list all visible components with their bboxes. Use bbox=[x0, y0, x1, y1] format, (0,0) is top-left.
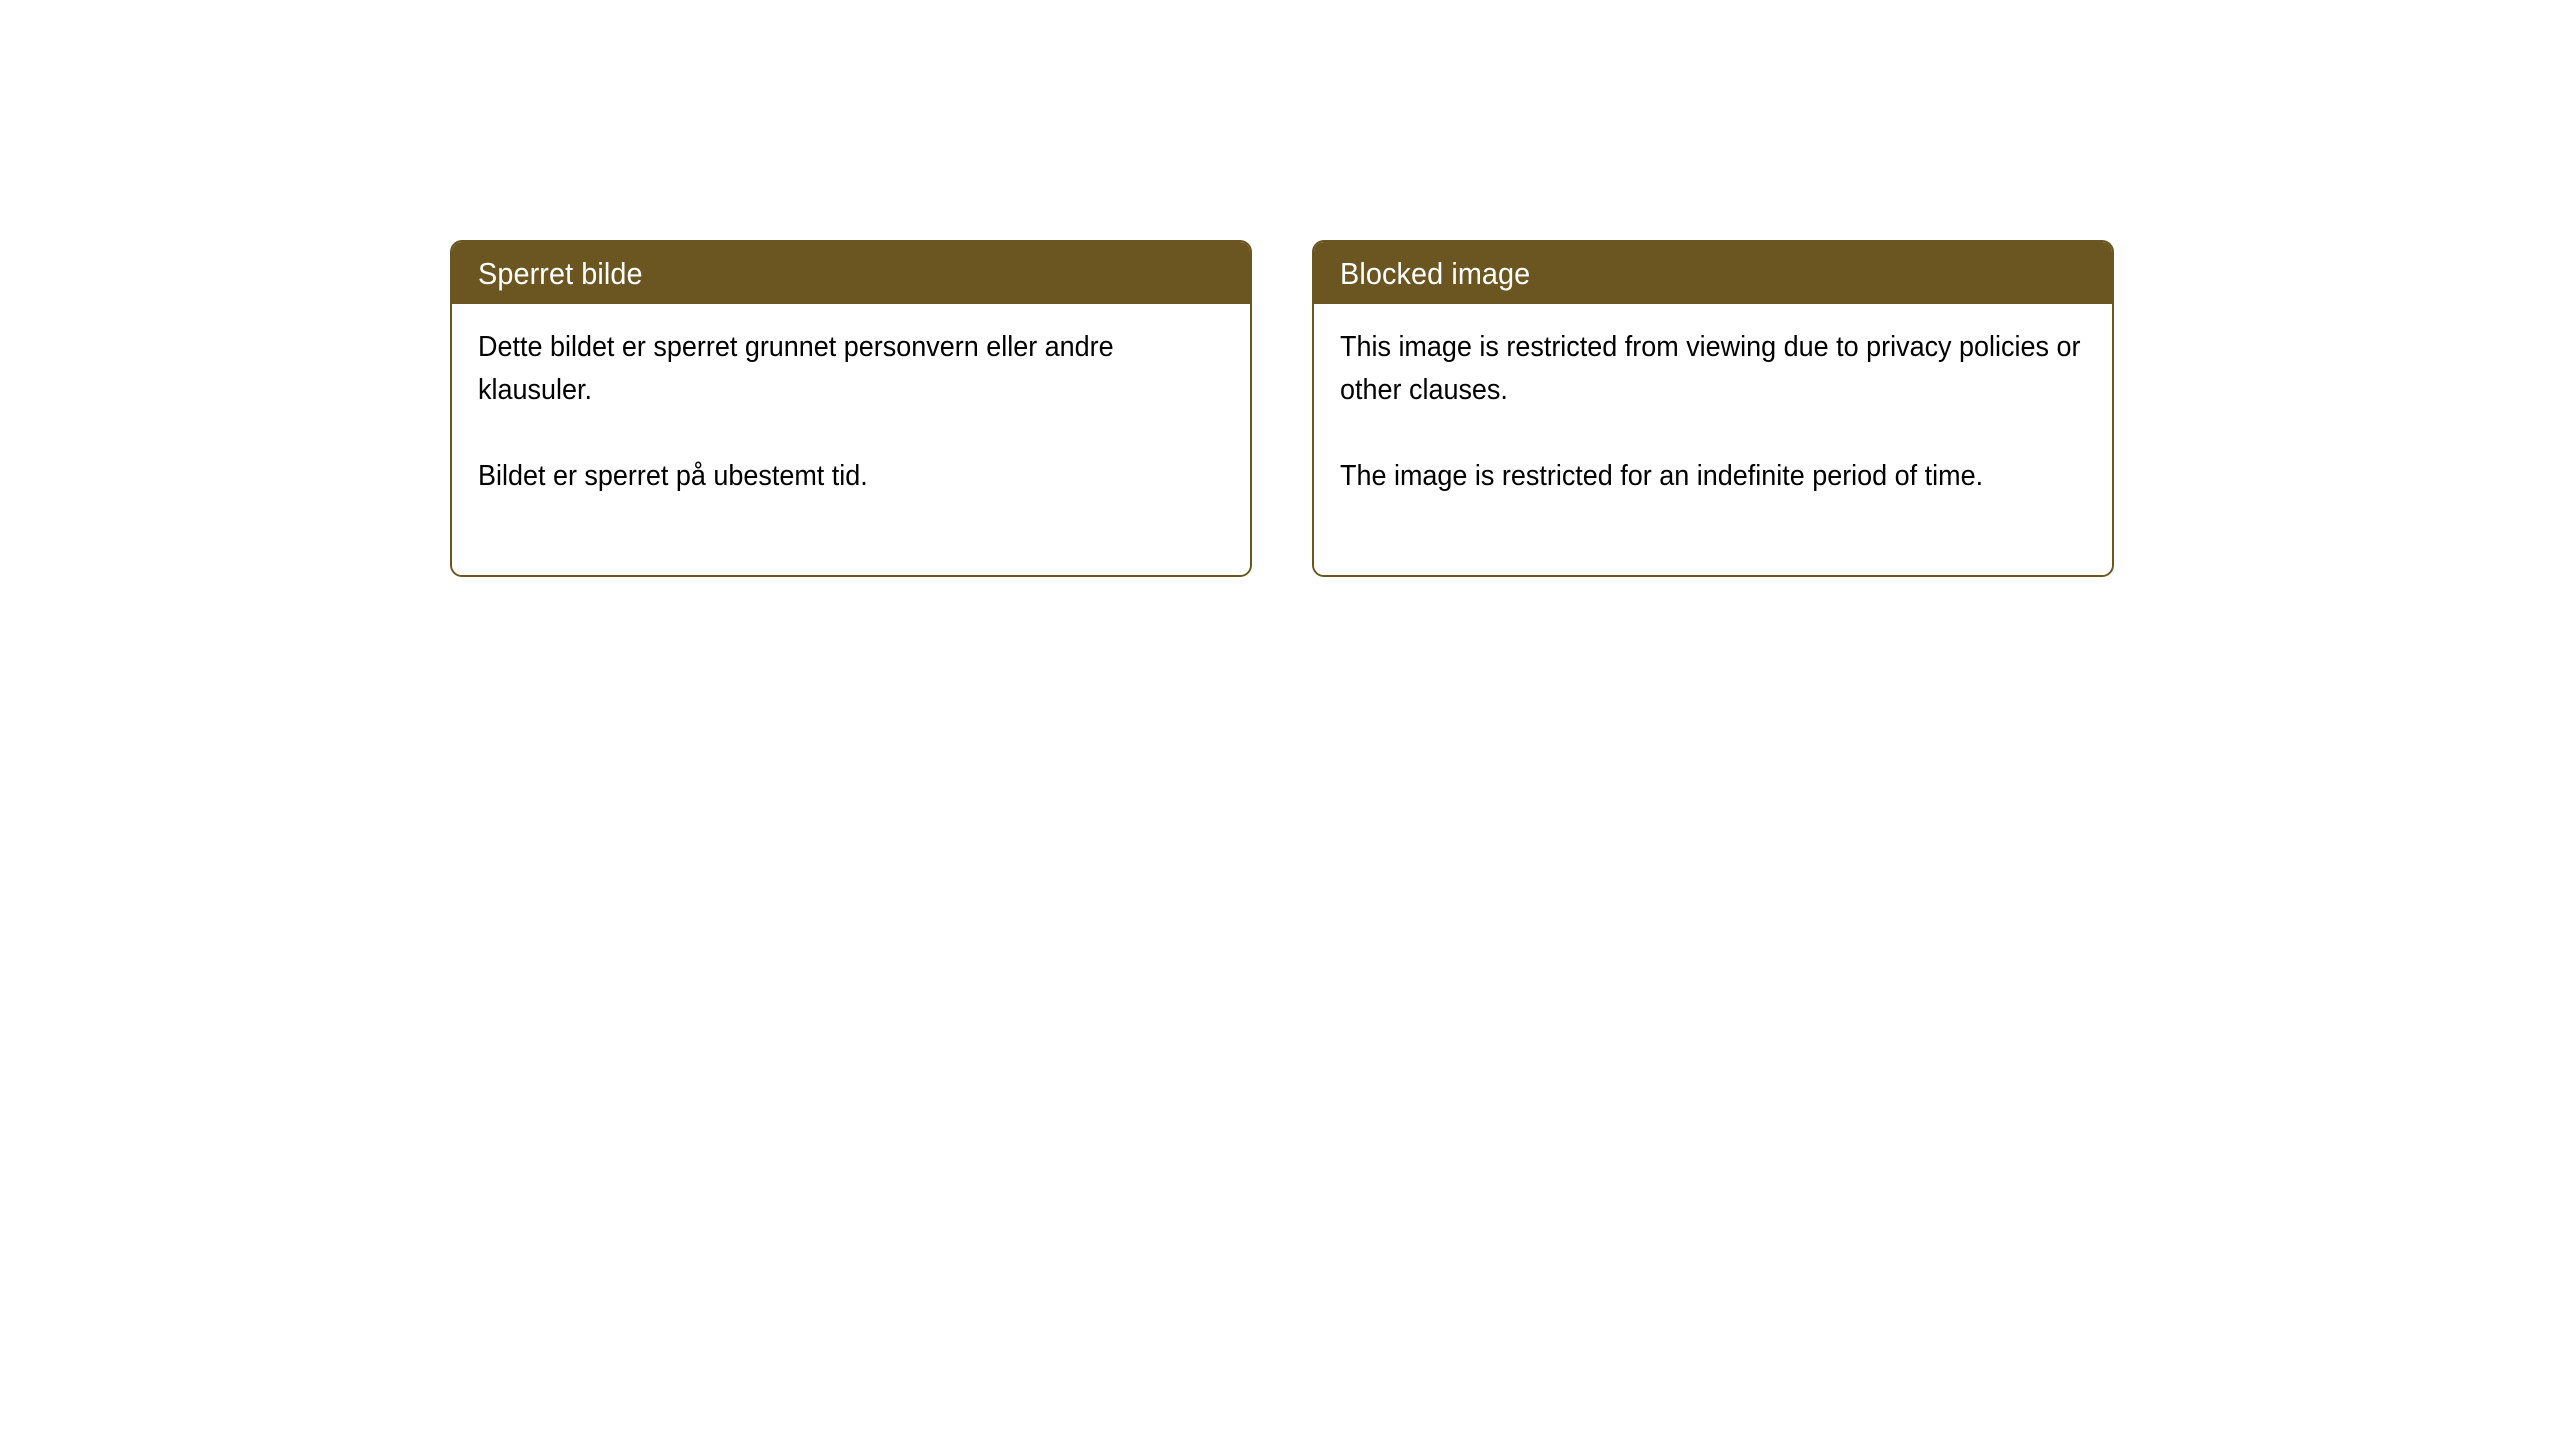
card-paragraph-en-1: This image is restricted from viewing du… bbox=[1340, 326, 2086, 412]
card-body-en: This image is restricted from viewing du… bbox=[1314, 304, 2112, 575]
card-title-no: Sperret bilde bbox=[478, 258, 643, 289]
card-paragraph-en-2: The image is restricted for an indefinit… bbox=[1340, 455, 2086, 498]
blocked-image-notice-group: Sperret bilde Dette bildet er sperret gr… bbox=[450, 240, 2114, 577]
card-header-no: Sperret bilde bbox=[452, 242, 1250, 304]
card-paragraph-no-1: Dette bildet er sperret grunnet personve… bbox=[478, 326, 1224, 412]
card-title-en: Blocked image bbox=[1340, 258, 1530, 289]
blocked-image-card-en: Blocked image This image is restricted f… bbox=[1312, 240, 2114, 577]
card-paragraph-no-2: Bildet er sperret på ubestemt tid. bbox=[478, 455, 1224, 498]
card-body-no: Dette bildet er sperret grunnet personve… bbox=[452, 304, 1250, 575]
card-header-en: Blocked image bbox=[1314, 242, 2112, 304]
blocked-image-card-no: Sperret bilde Dette bildet er sperret gr… bbox=[450, 240, 1252, 577]
page-canvas: Sperret bilde Dette bildet er sperret gr… bbox=[0, 0, 2560, 1440]
